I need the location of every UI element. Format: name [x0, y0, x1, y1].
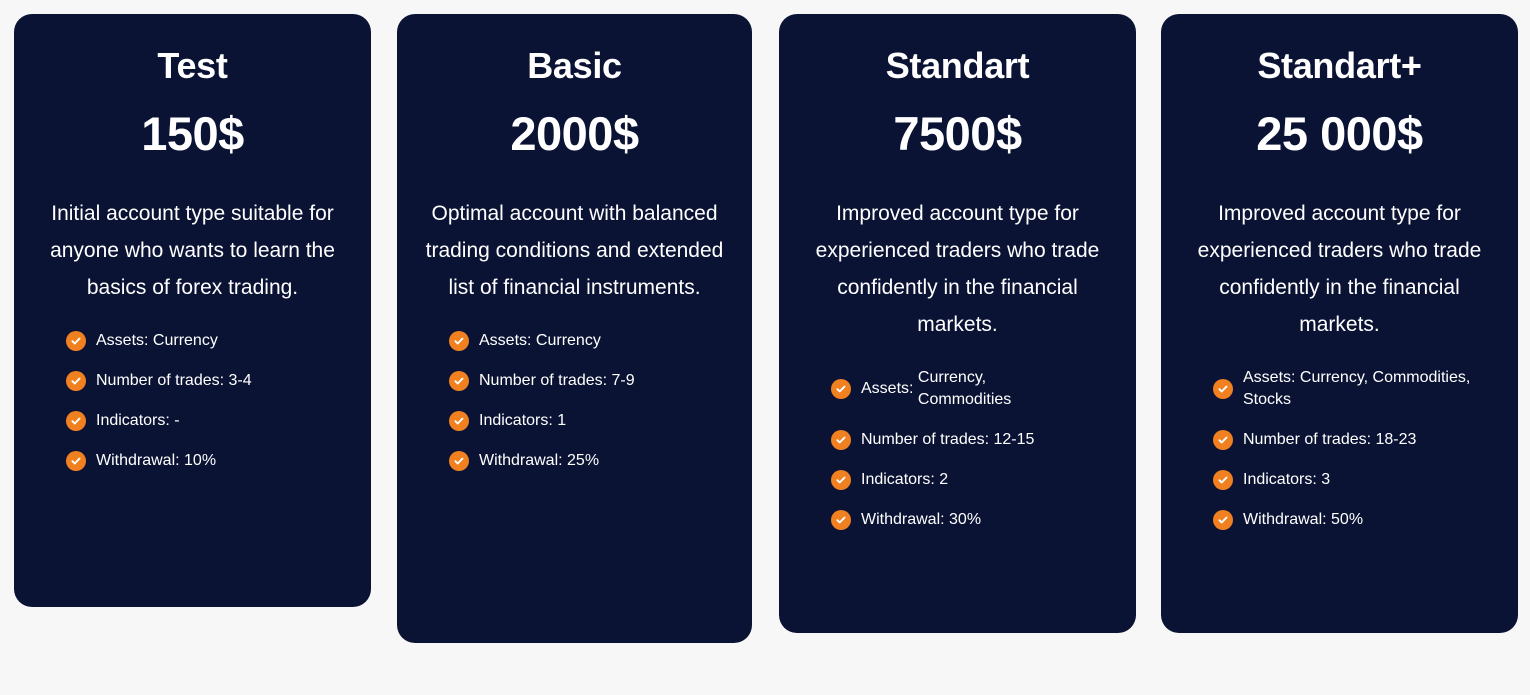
feature-list: Assets: CurrencyNumber of trades: 7-9Ind…: [415, 330, 734, 472]
check-circle-icon: [831, 510, 851, 530]
check-circle-icon: [1213, 430, 1233, 450]
check-circle-icon: [66, 411, 86, 431]
check-circle-icon: [66, 331, 86, 351]
check-circle-icon: [66, 371, 86, 391]
feature-item: Assets: Currency, Commodities: [831, 367, 1110, 411]
pricing-card[interactable]: Standart7500$Improved account type for e…: [779, 14, 1136, 633]
feature-item: Number of trades: 12-15: [831, 429, 1110, 451]
plan-description: Improved account type for experienced tr…: [1179, 195, 1500, 343]
plan-price: 150$: [141, 108, 244, 160]
feature-item: Withdrawal: 25%: [449, 450, 726, 472]
plan-description: Improved account type for experienced tr…: [797, 195, 1118, 343]
pricing-card[interactable]: Standart+25 000$Improved account type fo…: [1161, 14, 1518, 633]
feature-label: Withdrawal:: [1243, 509, 1331, 531]
feature-label: Indicators:: [479, 410, 557, 432]
feature-text: Indicators: 3: [1243, 469, 1330, 491]
plan-title: Standart+: [1257, 46, 1421, 86]
feature-value: 3-4: [229, 370, 252, 392]
feature-label: Withdrawal:: [861, 509, 949, 531]
feature-value: Currency, Commodities: [918, 367, 1011, 411]
feature-list: Assets: Currency, Commodities, StocksNum…: [1179, 367, 1500, 531]
feature-text: Indicators: 2: [861, 469, 948, 491]
feature-list: Assets: CurrencyNumber of trades: 3-4Ind…: [32, 330, 353, 472]
plan-price: 2000$: [510, 108, 638, 160]
check-circle-icon: [66, 451, 86, 471]
feature-value: 2: [939, 469, 948, 491]
feature-text: Assets: Currency: [96, 330, 218, 352]
feature-label: Withdrawal:: [96, 450, 184, 472]
feature-value: 10%: [184, 450, 216, 472]
check-circle-icon: [449, 411, 469, 431]
feature-item: Withdrawal: 30%: [831, 509, 1110, 531]
feature-text: Number of trades: 18-23: [1243, 429, 1416, 451]
feature-text: Withdrawal: 50%: [1243, 509, 1363, 531]
feature-value: 3: [1321, 469, 1330, 491]
check-circle-icon: [449, 451, 469, 471]
plan-title: Standart: [886, 46, 1030, 86]
feature-value: -: [174, 410, 179, 432]
feature-value: 30%: [949, 509, 981, 531]
feature-label: Assets:: [861, 378, 918, 400]
check-circle-icon: [449, 371, 469, 391]
feature-label: Withdrawal:: [479, 450, 567, 472]
check-circle-icon: [831, 470, 851, 490]
feature-value: Currency: [536, 330, 601, 352]
feature-item: Assets: Currency, Commodities, Stocks: [1213, 367, 1492, 411]
plan-description: Initial account type suitable for anyone…: [32, 195, 353, 306]
pricing-card[interactable]: Test150$Initial account type suitable fo…: [14, 14, 371, 607]
feature-label: Number of trades:: [479, 370, 612, 392]
plan-title: Test: [157, 46, 227, 86]
check-circle-icon: [831, 430, 851, 450]
feature-label: Assets:: [1243, 369, 1300, 386]
plan-title: Basic: [527, 46, 622, 86]
feature-item: Withdrawal: 10%: [66, 450, 345, 472]
feature-item: Withdrawal: 50%: [1213, 509, 1492, 531]
feature-value: 12-15: [994, 429, 1035, 451]
feature-item: Number of trades: 7-9: [449, 370, 726, 392]
feature-label: Number of trades:: [861, 429, 994, 451]
plan-description: Optimal account with balanced trading co…: [415, 195, 734, 306]
feature-text: Indicators: -: [96, 410, 180, 432]
feature-text: Assets: Currency, Commodities, Stocks: [1243, 367, 1492, 411]
feature-item: Indicators: 2: [831, 469, 1110, 491]
feature-label: Indicators:: [861, 469, 939, 491]
feature-text: Number of trades: 7-9: [479, 370, 635, 392]
pricing-cards-row: Test150$Initial account type suitable fo…: [0, 0, 1530, 695]
feature-value: 1: [557, 410, 566, 432]
check-circle-icon: [831, 379, 851, 399]
check-circle-icon: [1213, 379, 1233, 399]
feature-text: Withdrawal: 25%: [479, 450, 599, 472]
feature-list: Assets: Currency, CommoditiesNumber of t…: [797, 367, 1118, 531]
feature-item: Number of trades: 3-4: [66, 370, 345, 392]
plan-price: 25 000$: [1256, 108, 1422, 160]
feature-value: 7-9: [612, 370, 635, 392]
pricing-card[interactable]: Basic2000$Optimal account with balanced …: [397, 14, 752, 643]
feature-label: Number of trades:: [1243, 429, 1376, 451]
feature-value: Currency: [153, 330, 218, 352]
feature-text: Number of trades: 3-4: [96, 370, 252, 392]
feature-item: Indicators: 1: [449, 410, 726, 432]
feature-label: Assets:: [96, 330, 153, 352]
feature-text: Withdrawal: 30%: [861, 509, 981, 531]
feature-value: 18-23: [1376, 429, 1417, 451]
check-circle-icon: [1213, 510, 1233, 530]
feature-item: Number of trades: 18-23: [1213, 429, 1492, 451]
feature-text: Number of trades: 12-15: [861, 429, 1034, 451]
feature-text: Assets: Currency, Commodities: [861, 367, 1011, 411]
feature-item: Indicators: 3: [1213, 469, 1492, 491]
feature-text: Withdrawal: 10%: [96, 450, 216, 472]
feature-label: Number of trades:: [96, 370, 229, 392]
feature-item: Indicators: -: [66, 410, 345, 432]
feature-text: Indicators: 1: [479, 410, 566, 432]
plan-price: 7500$: [893, 108, 1021, 160]
feature-label: Indicators:: [96, 410, 174, 432]
feature-label: Assets:: [479, 330, 536, 352]
check-circle-icon: [449, 331, 469, 351]
check-circle-icon: [1213, 470, 1233, 490]
feature-label: Indicators:: [1243, 469, 1321, 491]
feature-item: Assets: Currency: [449, 330, 726, 352]
feature-value: 50%: [1331, 509, 1363, 531]
feature-value: 25%: [567, 450, 599, 472]
feature-text: Assets: Currency: [479, 330, 601, 352]
feature-item: Assets: Currency: [66, 330, 345, 352]
